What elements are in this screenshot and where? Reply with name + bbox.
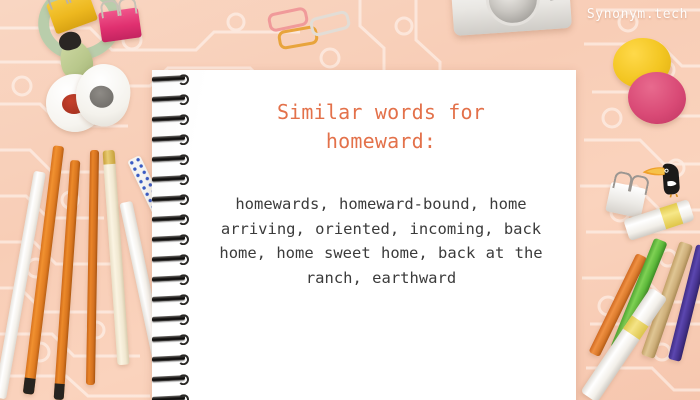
synonyms-list: homewards, homeward-bound, home arriving… [207,192,555,290]
spiral-ring [152,295,185,302]
pen-clip [103,150,116,165]
spiral-ring [152,275,185,282]
site-logo[interactable]: Synonym.tech [587,7,688,22]
toucan-sticker [637,156,688,199]
spiral-ring [152,315,185,322]
page-content: Similar words for homeward: homewards, h… [186,70,576,400]
spiral-ring [152,115,185,122]
title-line-1: Similar words for [277,98,485,127]
spiral-ring [152,335,185,342]
spiral-ring [152,375,185,382]
pencil-tip [54,383,65,400]
spiral-ring [152,355,185,362]
spiral-binding [152,74,186,400]
binder-clip-pink [98,7,142,42]
spiral-ring [152,75,185,82]
spiral-ring [152,255,185,262]
spiral-ring [152,215,185,222]
page-title: Similar words for homeward: [277,98,485,156]
spiral-ring [152,395,185,400]
spiral-ring [152,155,185,162]
screenshot-root: Similar words for homeward: homewards, h… [0,0,700,400]
pencil-tip [23,378,36,395]
spiral-ring [152,135,185,142]
spiral-ring [152,195,185,202]
title-line-2: homeward: [277,127,485,156]
spiral-ring [152,95,185,102]
spiral-ring [152,235,185,242]
spiral-ring [152,175,185,182]
